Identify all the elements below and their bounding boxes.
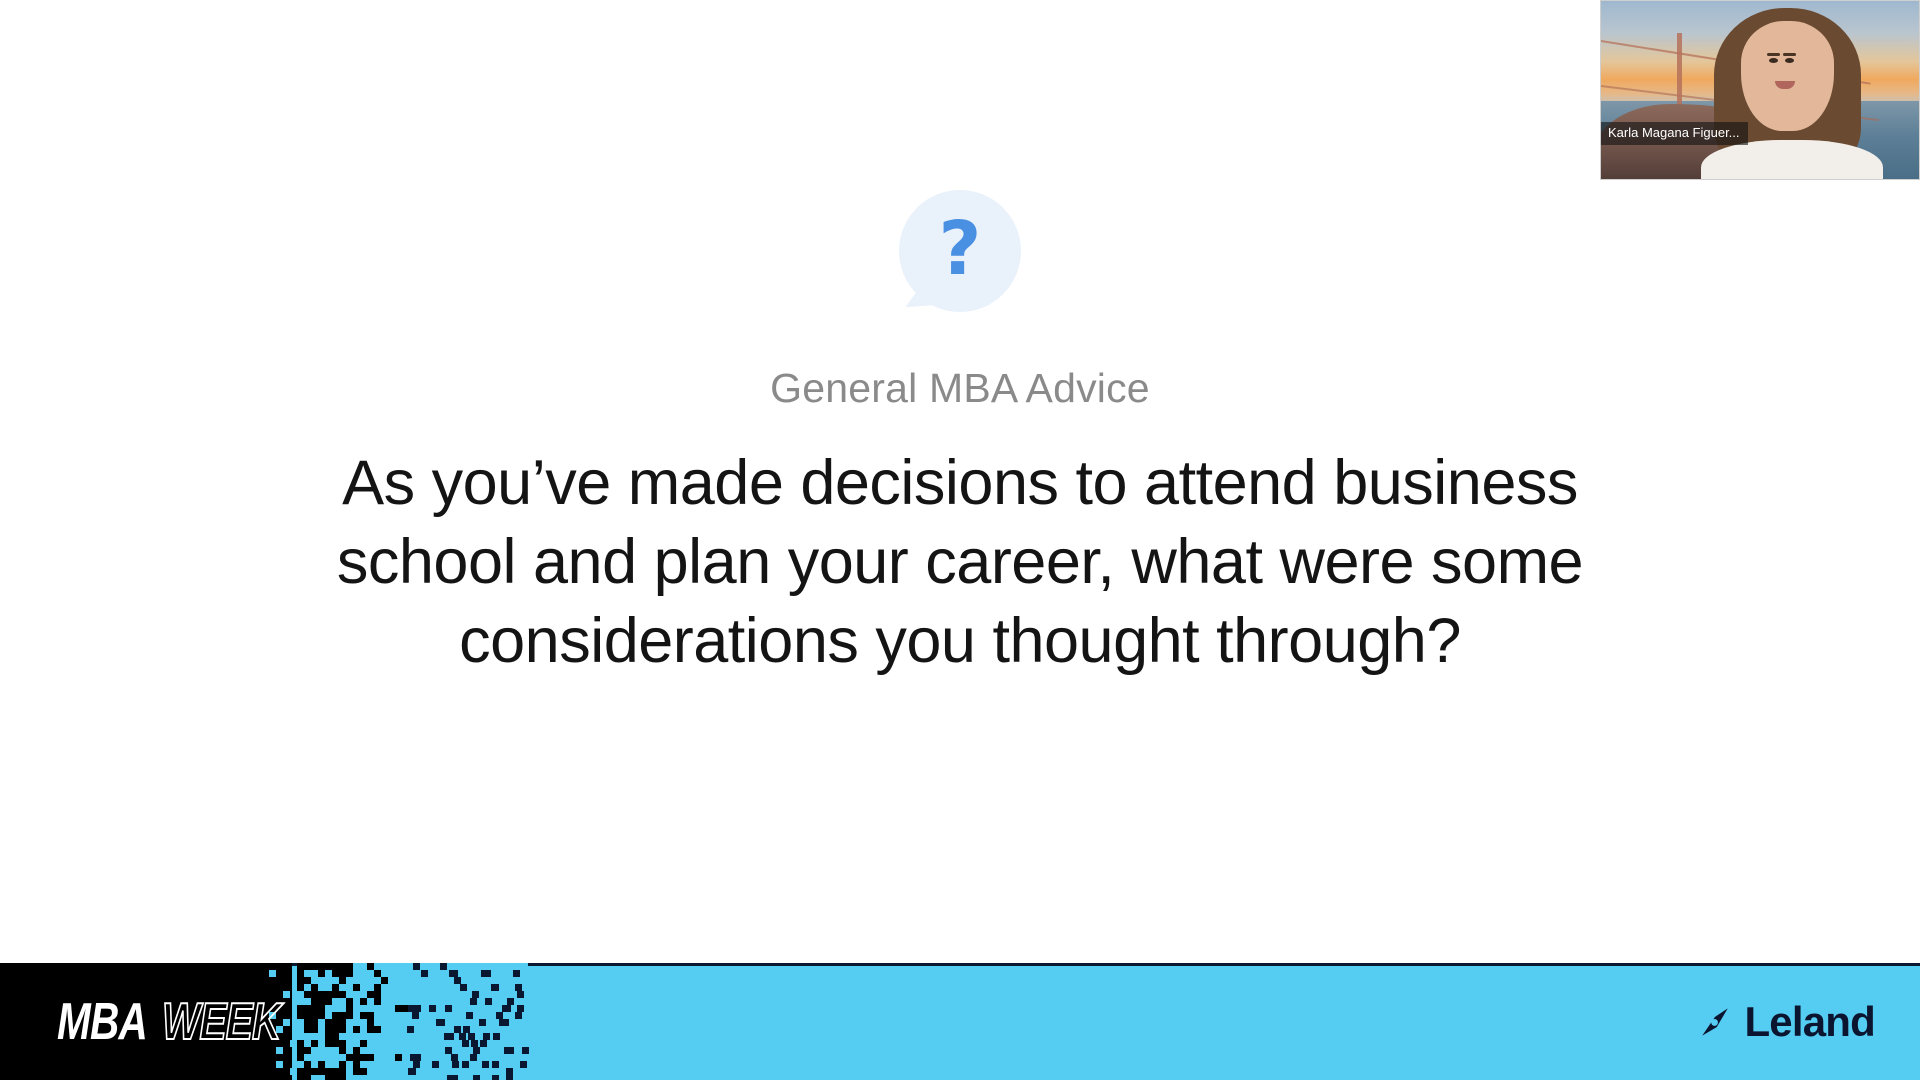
question-line-3: considerations you thought through? (270, 602, 1650, 681)
participant-brow-right (1783, 53, 1796, 56)
slide-category-label: General MBA Advice (0, 365, 1920, 412)
bridge-tower-near-icon (1677, 33, 1682, 108)
participant-face (1741, 21, 1834, 131)
leland-compass-diamond-icon (1698, 1005, 1732, 1039)
mba-week-logo: MBA WEEK (57, 996, 314, 1048)
participant-eye-right (1785, 58, 1794, 63)
participant-brow-left (1767, 53, 1780, 56)
participant-eye-left (1769, 58, 1778, 63)
question-line-2: school and plan your career, what were s… (270, 523, 1650, 602)
mba-week-logo-outline: WEEK (162, 996, 281, 1048)
participant-portrait (1696, 1, 1919, 179)
leland-sponsor-logo: Leland (1698, 1001, 1875, 1043)
question-line-1: As you’ve made decisions to attend busin… (270, 444, 1650, 523)
question-speech-bubble-icon: ? (890, 190, 1030, 326)
participant-name-label: Karla Magana Figuer... (1601, 122, 1748, 145)
slide-footer-bar: MBA WEEK Leland (0, 963, 1920, 1080)
mba-week-logo-solid: MBA (57, 996, 147, 1048)
slide-question-text: As you’ve made decisions to attend busin… (270, 444, 1650, 681)
participant-mouth (1775, 81, 1795, 89)
question-mark-glyph: ? (899, 190, 1021, 312)
presentation-slide: ? General MBA Advice As you’ve made deci… (0, 0, 1920, 1080)
leland-wordmark: Leland (1744, 1001, 1875, 1043)
participant-video-tile[interactable]: Karla Magana Figuer... (1600, 0, 1920, 180)
